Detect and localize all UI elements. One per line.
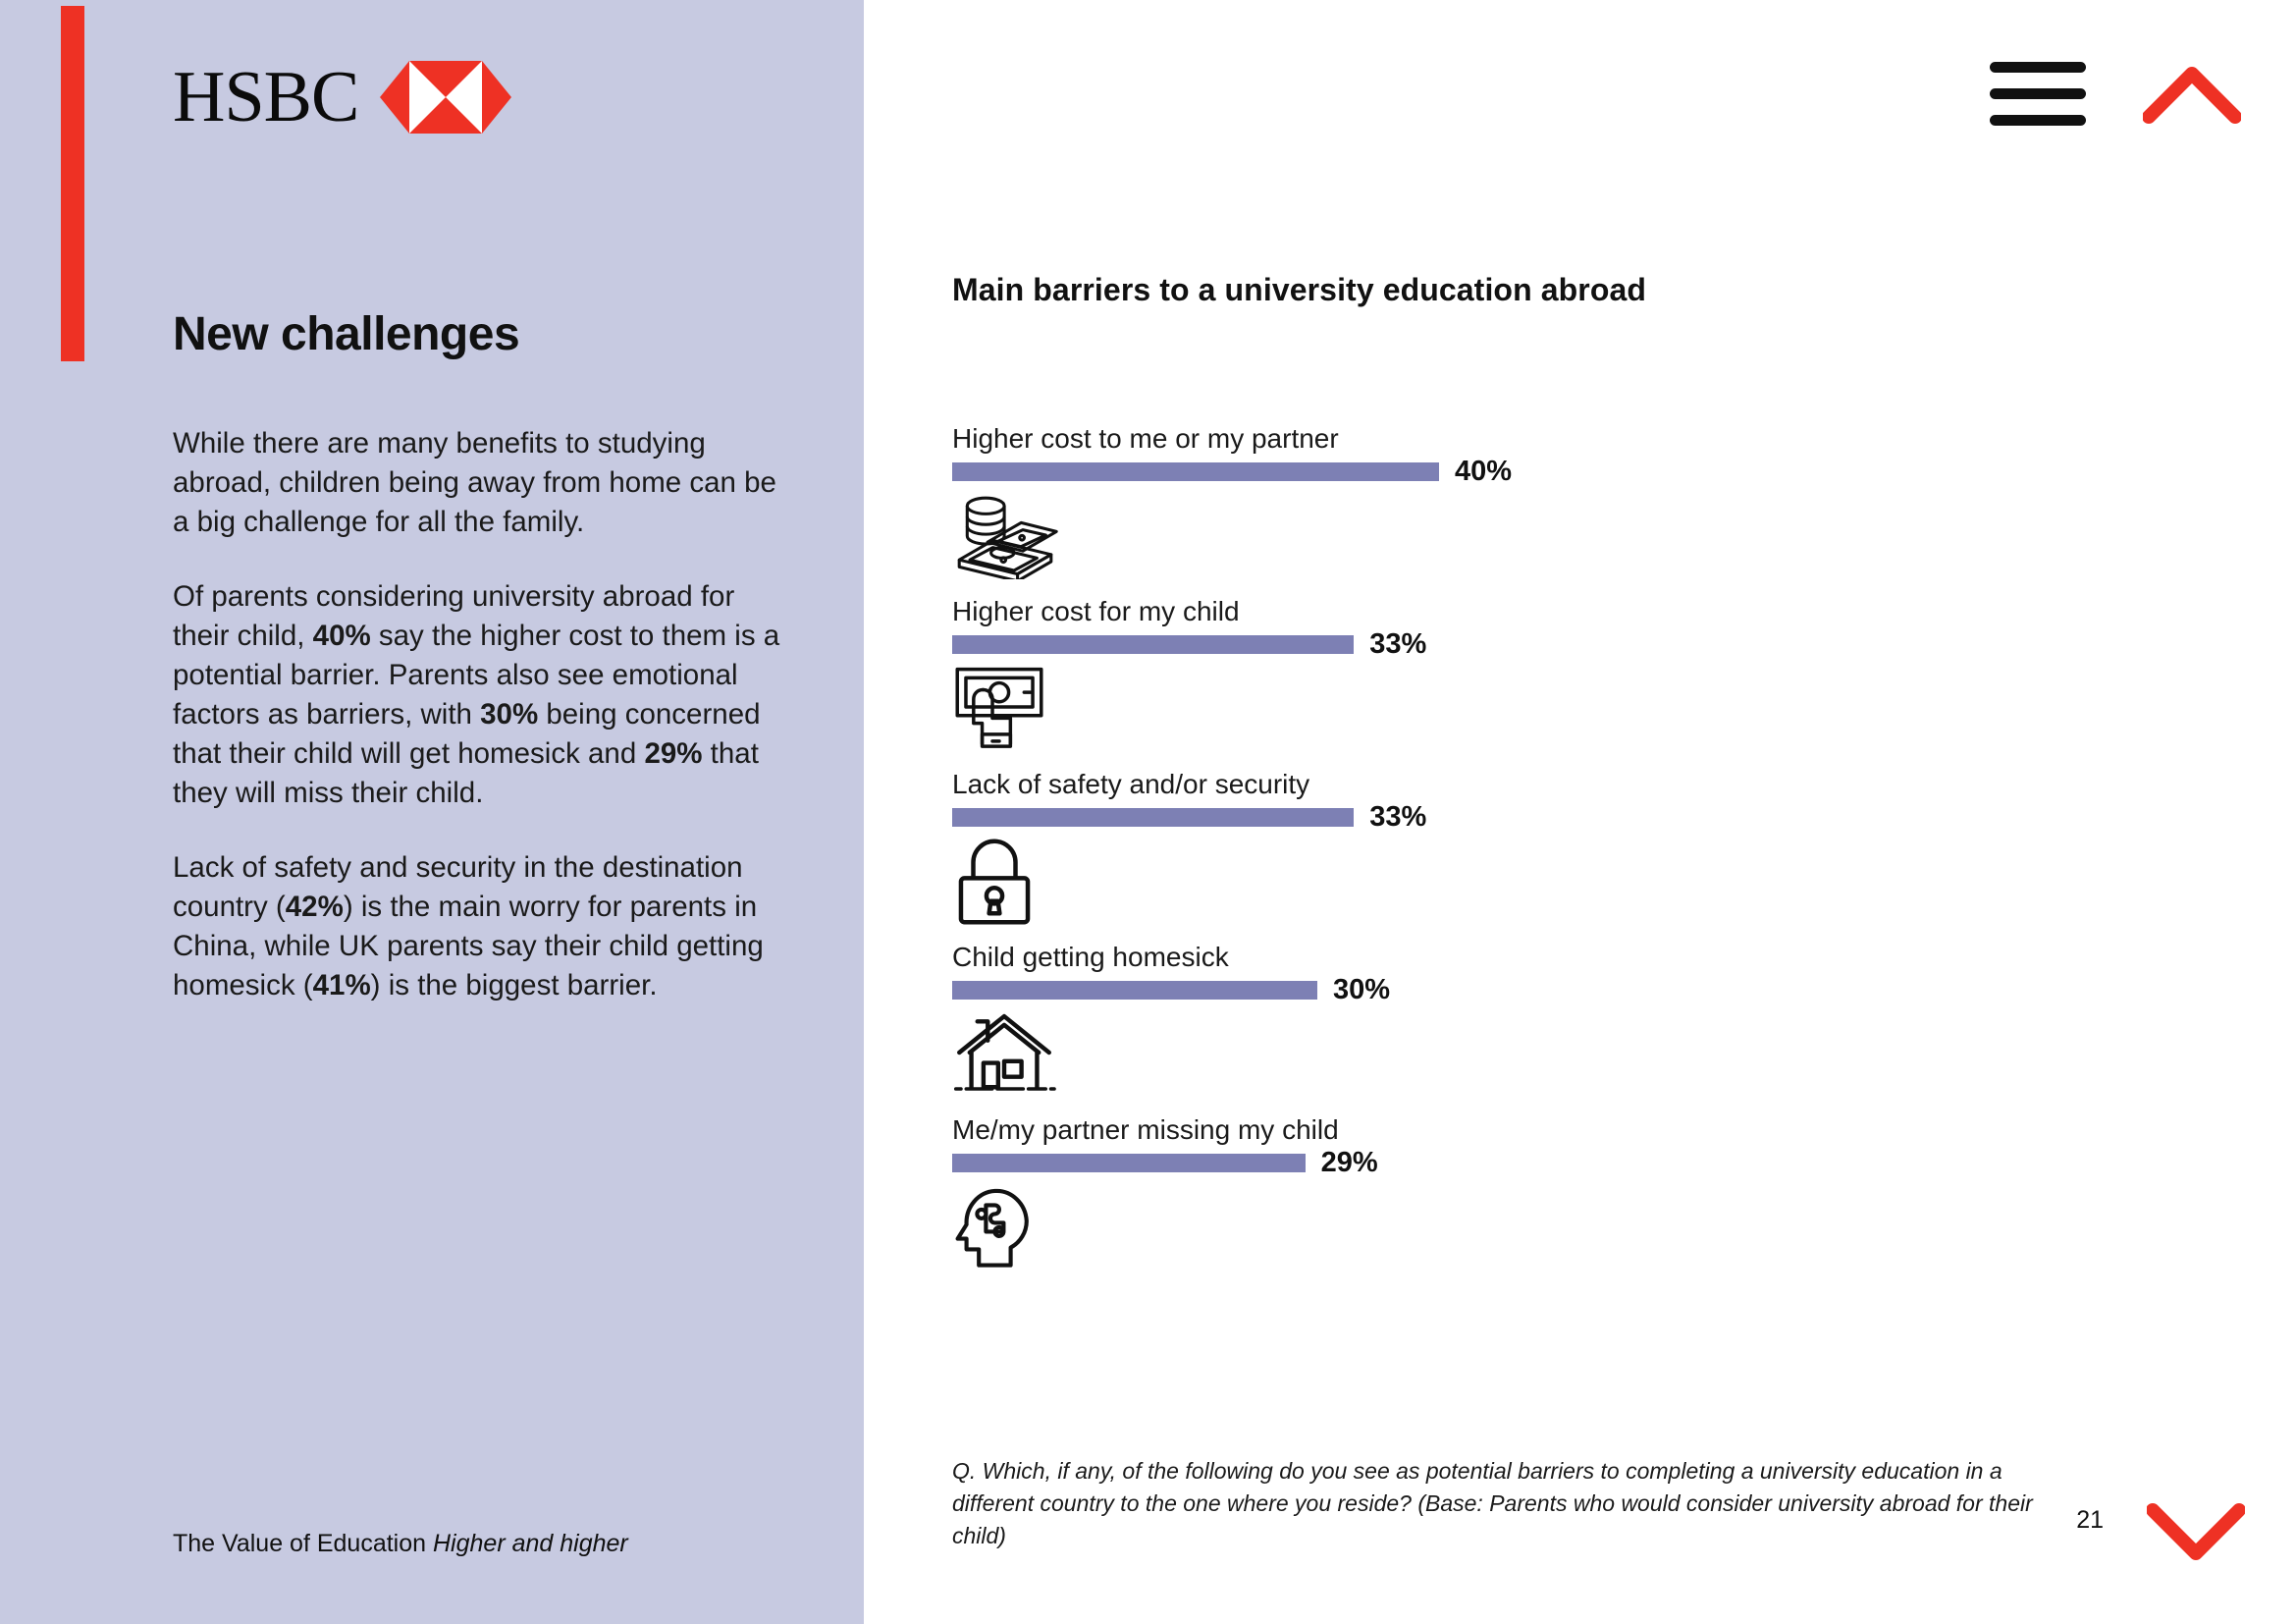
emphasis-stat: 30%: [480, 698, 538, 731]
hand-holding-banknote-icon: [952, 664, 2130, 762]
house-icon: [952, 1009, 1056, 1096]
emphasis-stat: 29%: [644, 737, 702, 770]
chevron-down-icon[interactable]: [2147, 1500, 2245, 1561]
money-stack-icon: [952, 491, 2130, 589]
main-content: Main barriers to a university education …: [864, 0, 2296, 1624]
bar-row: 33%: [952, 806, 2130, 828]
chart-bar-group: Higher cost for my child33%: [952, 595, 2130, 762]
hamburger-menu-icon[interactable]: [1990, 59, 2086, 130]
bar-fill: [952, 1154, 1306, 1172]
emphasis-stat: 42%: [286, 891, 344, 923]
bar-category-label: Child getting homesick: [952, 941, 2130, 974]
bar-category-label: Me/my partner missing my child: [952, 1113, 2130, 1147]
chart-bar-group: Lack of safety and/or security33%: [952, 768, 2130, 935]
hand-holding-banknote-icon: [952, 664, 1046, 750]
bar-category-label: Higher cost to me or my partner: [952, 422, 2130, 456]
hsbc-hexagon-icon: [380, 61, 511, 134]
bar-value-label: 30%: [1333, 976, 1390, 1004]
chart-bar-group: Higher cost to me or my partner40%: [952, 422, 2130, 589]
slide: HSBC New challenges While there are many…: [0, 0, 2296, 1624]
bar-fill: [952, 981, 1317, 1000]
bar-fill: [952, 808, 1354, 827]
chart-bar-group: Me/my partner missing my child29%: [952, 1113, 2130, 1280]
head-puzzle-icon: [952, 1182, 2130, 1280]
padlock-icon: [952, 837, 1037, 927]
top-navigation: [1990, 59, 2241, 130]
bar-category-label: Lack of safety and/or security: [952, 768, 2130, 801]
bar-value-label: 33%: [1369, 803, 1426, 832]
chart-title: Main barriers to a university education …: [952, 272, 1646, 308]
page-title: New challenges: [173, 309, 519, 360]
chart-bar-group: Child getting homesick30%: [952, 941, 2130, 1108]
chevron-up-icon[interactable]: [2143, 64, 2241, 125]
sidebar-paragraph: Of parents considering university abroad…: [173, 577, 781, 813]
money-stack-icon: [952, 491, 1058, 579]
padlock-icon: [952, 837, 2130, 935]
bar-value-label: 33%: [1369, 630, 1426, 659]
deck-footer: The Value of Education Higher and higher: [173, 1530, 628, 1558]
bar-value-label: 40%: [1455, 458, 1512, 486]
head-puzzle-icon: [952, 1182, 1044, 1271]
hsbc-wordmark: HSBC: [173, 61, 358, 134]
deck-footer-subtitle: Higher and higher: [433, 1530, 628, 1557]
chart-footnote: Q. Which, if any, of the following do yo…: [952, 1455, 2052, 1552]
paragraph-text: ) is the biggest barrier.: [371, 969, 658, 1001]
emphasis-stat: 40%: [313, 620, 371, 652]
bar-fill: [952, 462, 1439, 481]
bar-row: 40%: [952, 460, 2130, 482]
bar-category-label: Higher cost for my child: [952, 595, 2130, 628]
page-number: 21: [2076, 1506, 2104, 1535]
hsbc-logo: HSBC: [173, 61, 511, 134]
red-accent-bar: [61, 6, 84, 361]
barriers-bar-chart: Higher cost to me or my partner40% Highe…: [952, 422, 2130, 1286]
sidebar-paragraph: While there are many benefits to studyin…: [173, 424, 781, 542]
bar-value-label: 29%: [1321, 1149, 1378, 1177]
sidebar-body-copy: While there are many benefits to studyin…: [173, 424, 781, 1041]
bar-row: 30%: [952, 979, 2130, 1001]
bar-row: 33%: [952, 633, 2130, 655]
paragraph-text: While there are many benefits to studyin…: [173, 427, 776, 538]
sidebar-paragraph: Lack of safety and security in the desti…: [173, 848, 781, 1005]
bar-row: 29%: [952, 1152, 2130, 1173]
emphasis-stat: 41%: [313, 969, 371, 1001]
sidebar: HSBC New challenges While there are many…: [0, 0, 864, 1624]
deck-footer-title: The Value of Education: [173, 1530, 433, 1557]
house-icon: [952, 1009, 2130, 1108]
bar-fill: [952, 635, 1354, 654]
